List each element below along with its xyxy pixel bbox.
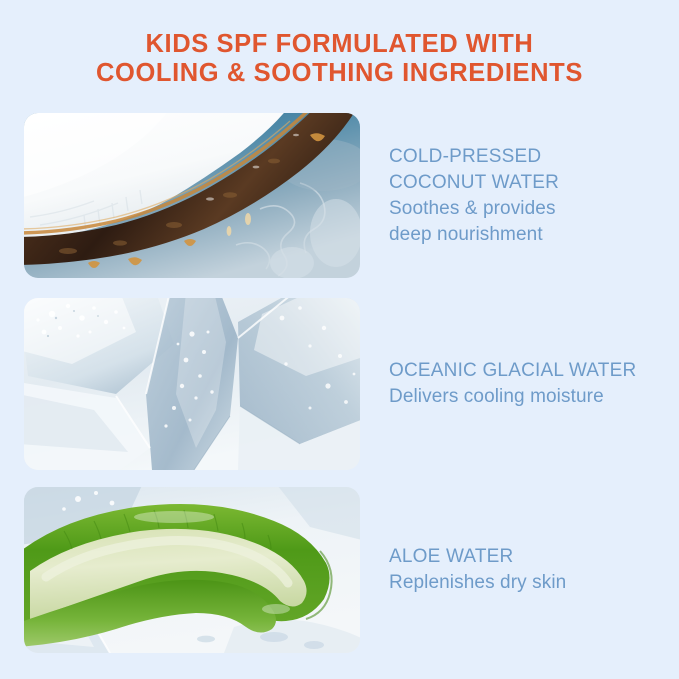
- page-title: KIDS SPF FORMULATED WITH COOLING & SOOTH…: [0, 30, 679, 88]
- aloe-copy: ALOE WATER Replenishes dry skin: [360, 544, 655, 596]
- aloe-photo: [24, 487, 360, 653]
- coconut-copy: COLD-PRESSED COCONUT WATER Soothes & pro…: [360, 144, 655, 248]
- ingredient-poster: KIDS SPF FORMULATED WITH COOLING & SOOTH…: [0, 0, 679, 679]
- ingredient-row-glacial-water: OCEANIC GLACIAL WATER Delivers cooling m…: [24, 298, 655, 470]
- coconut-photo: [24, 113, 360, 278]
- ingredient-row-aloe: ALOE WATER Replenishes dry skin: [24, 487, 655, 653]
- glacial-water-copy: OCEANIC GLACIAL WATER Delivers cooling m…: [360, 358, 655, 410]
- aloe-heading: ALOE WATER: [389, 544, 655, 570]
- title-line-2: COOLING & SOOTHING INGREDIENTS: [0, 59, 679, 88]
- coconut-heading-line-2: COCONUT WATER: [389, 170, 655, 196]
- glacial-water-heading: OCEANIC GLACIAL WATER: [389, 358, 655, 384]
- coconut-desc-line-1: Soothes & provides: [389, 196, 655, 222]
- aloe-desc: Replenishes dry skin: [389, 570, 655, 596]
- coconut-desc-line-2: deep nourishment: [389, 222, 655, 248]
- glacial-ice-photo: [24, 298, 360, 470]
- glacial-water-desc: Delivers cooling moisture: [389, 384, 655, 410]
- coconut-heading-line-1: COLD-PRESSED: [389, 144, 655, 170]
- title-line-1: KIDS SPF FORMULATED WITH: [0, 30, 679, 59]
- ingredient-row-coconut: COLD-PRESSED COCONUT WATER Soothes & pro…: [24, 113, 655, 278]
